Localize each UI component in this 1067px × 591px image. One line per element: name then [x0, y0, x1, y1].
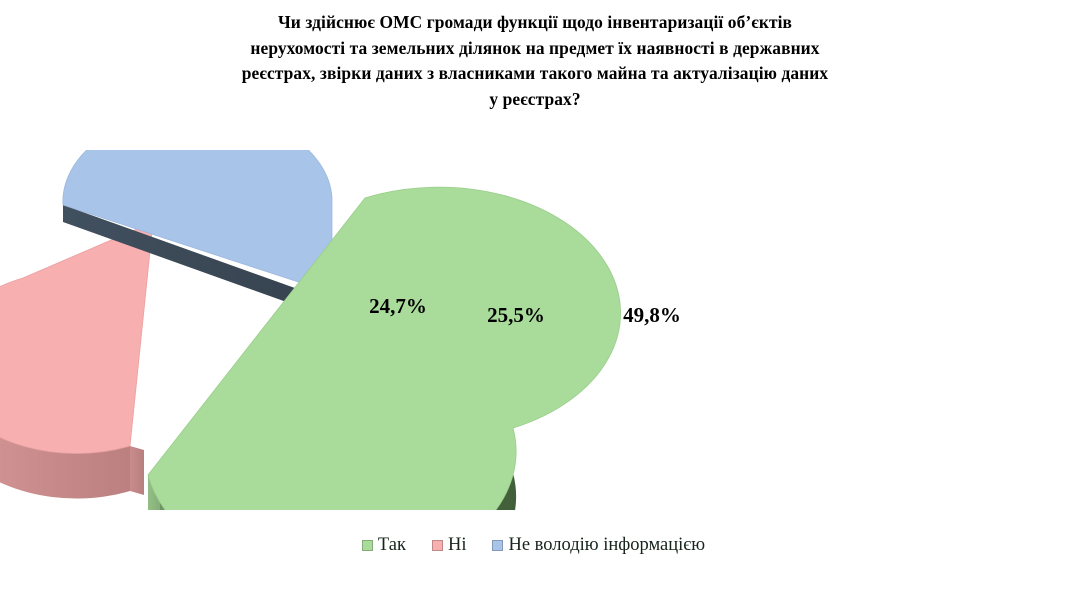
pie-slice-ni-top	[0, 222, 153, 453]
chart-legend: Так Ні Не володію інформацією	[0, 536, 1067, 555]
legend-item-ne-volodiyu[interactable]: Не володію інформацією	[492, 536, 705, 555]
legend-label-ni: Ні	[448, 536, 467, 555]
pie-label-ni: 24,7%	[369, 294, 427, 318]
chart-title: Чи здійснює ОМС громади функції щодо інв…	[140, 10, 930, 112]
pie-slice-ni-cut-wall	[130, 446, 144, 495]
legend-swatch-ne-volodiyu	[492, 540, 503, 551]
legend-label-ne-volodiyu: Не володію інформацією	[508, 536, 705, 555]
legend-swatch-ni	[432, 540, 443, 551]
pie-plot-area: 25,5% 24,7% 49,8%	[0, 150, 1067, 510]
legend-item-tak[interactable]: Так	[362, 536, 406, 555]
pie-chart-figure: Чи здійснює ОМС громади функції щодо інв…	[0, 0, 1067, 591]
pie-label-ne-volodiyu: 25,5%	[487, 303, 545, 327]
legend-item-ni[interactable]: Ні	[432, 536, 467, 555]
pie-slice-ni[interactable]	[0, 222, 153, 498]
pie-label-tak: 49,8%	[623, 303, 681, 327]
pie-svg: 25,5% 24,7% 49,8%	[0, 150, 1067, 510]
legend-label-tak: Так	[378, 536, 406, 555]
legend-swatch-tak	[362, 540, 373, 551]
